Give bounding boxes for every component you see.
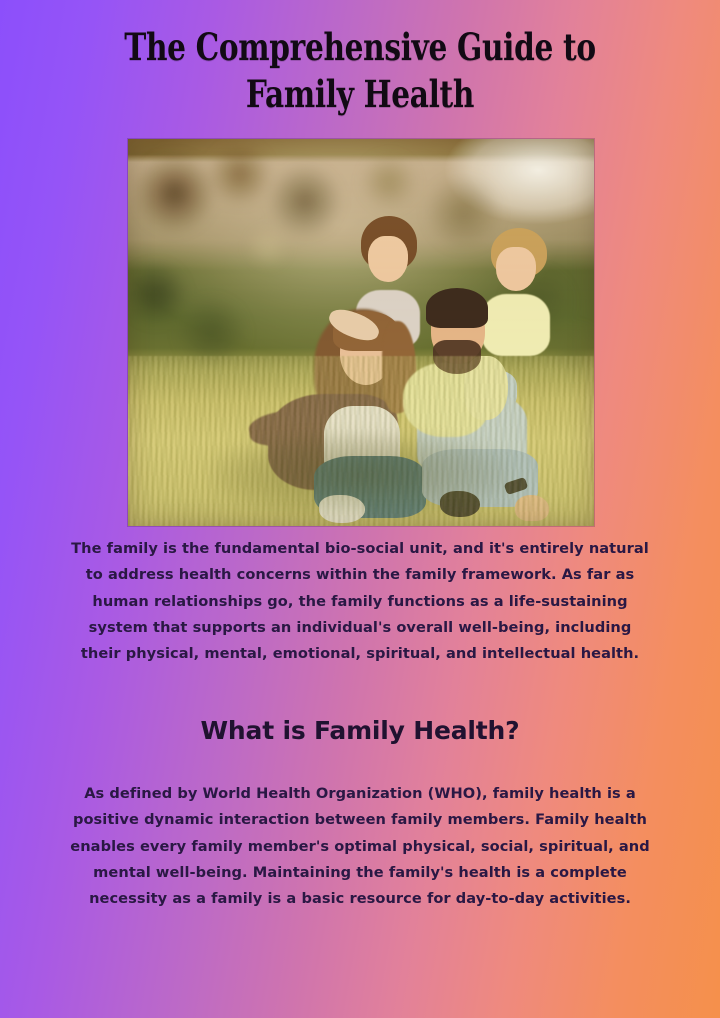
family-photo — [128, 139, 594, 526]
subheading-block: What is Family Health? — [0, 716, 720, 745]
photo-vignette — [128, 139, 594, 526]
title-block: The Comprehensive Guide to Family Health — [0, 24, 720, 119]
poster-page: The Comprehensive Guide to Family Health — [0, 0, 720, 1018]
intro-paragraph-text: The family is the fundamental bio-social… — [68, 536, 652, 667]
section-subheading: What is Family Health? — [0, 716, 720, 745]
page-title: The Comprehensive Guide to Family Health — [93, 24, 627, 119]
definition-paragraph-text: As defined by World Health Organization … — [68, 781, 652, 912]
intro-paragraph-block: The family is the fundamental bio-social… — [0, 536, 720, 667]
definition-paragraph-block: As defined by World Health Organization … — [0, 781, 720, 912]
